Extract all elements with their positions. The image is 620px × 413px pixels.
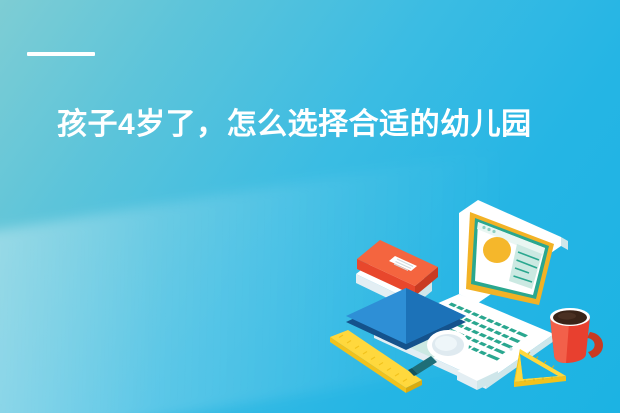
page-title: 孩子4岁了，怎么选择合适的幼儿园 xyxy=(57,105,532,145)
coffee-mug-icon xyxy=(550,308,603,363)
accent-rule xyxy=(27,52,95,56)
article-cover-banner: 孩子4岁了，怎么选择合适的幼儿园 xyxy=(0,0,620,413)
desk-study-illustration xyxy=(318,182,620,413)
